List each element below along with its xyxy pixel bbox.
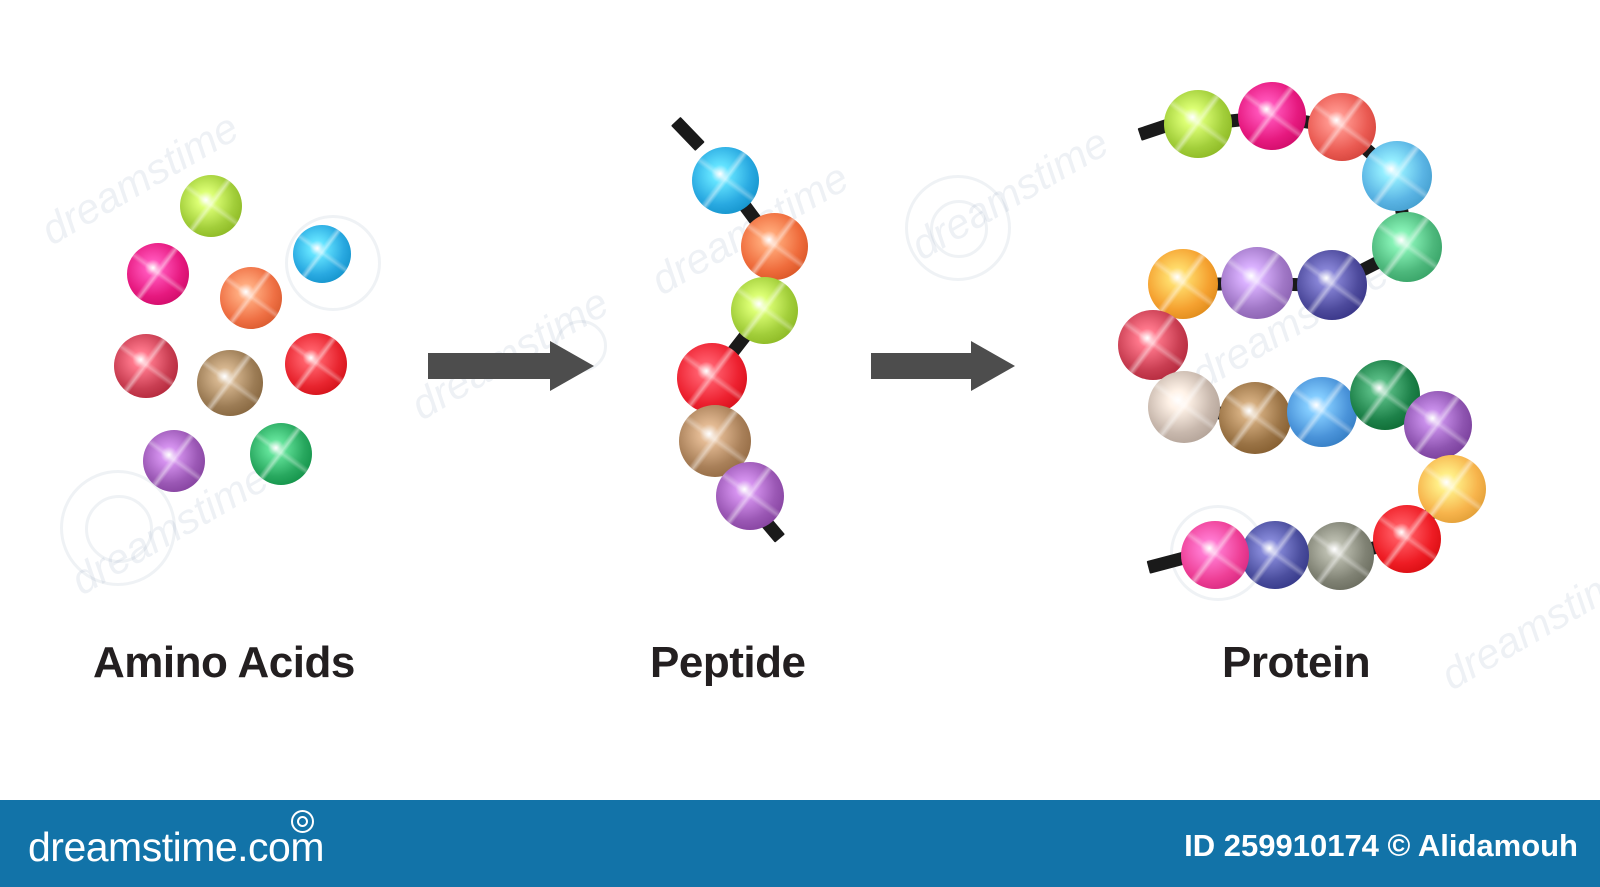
- amino-acid-sphere-sky-blue: [293, 225, 351, 283]
- amino-acid-sphere-sky-blue: [1362, 141, 1432, 211]
- watermark-ring: [905, 175, 1011, 281]
- amino-acid-sphere-purple: [716, 462, 784, 530]
- arrow-shaft: [428, 353, 550, 379]
- amino-acid-sphere-yellow-green: [731, 277, 798, 344]
- illustration-area: dreamstimedreamstimedreamstimedreamstime…: [0, 0, 1600, 800]
- amino-acid-sphere-red: [285, 333, 347, 395]
- amino-acid-sphere-pink: [1181, 521, 1249, 589]
- amino-acid-sphere-purple: [143, 430, 205, 492]
- amino-acid-sphere-magenta: [1238, 82, 1306, 150]
- stage-label-amino-acids: Amino Acids: [93, 638, 355, 688]
- amino-acid-sphere-yellow-green: [180, 175, 242, 237]
- diagram-canvas: dreamstimedreamstimedreamstimedreamstime…: [0, 0, 1600, 887]
- amino-acid-sphere-green: [1372, 212, 1442, 282]
- spiral-icon: [291, 810, 314, 833]
- footer-bar: dreamstime.com ID 259910174 © Alidamouh: [0, 800, 1600, 887]
- amino-acid-sphere-orange: [741, 213, 808, 280]
- watermark-text: dreamstime: [1433, 548, 1600, 699]
- amino-acid-sphere-crimson: [1118, 310, 1188, 380]
- amino-acid-sphere-purple: [1404, 391, 1472, 459]
- watermark-ring: [85, 495, 153, 563]
- watermark-ring: [930, 200, 988, 258]
- amino-acid-sphere-light-purple: [1221, 247, 1293, 319]
- amino-acid-sphere-navy-purple: [1297, 250, 1367, 320]
- stage-label-protein: Protein: [1222, 638, 1370, 688]
- amino-acid-sphere-gray: [1306, 522, 1374, 590]
- amino-acid-sphere-salmon-red: [1308, 93, 1376, 161]
- amino-acid-sphere-orange: [220, 267, 282, 329]
- amino-acid-sphere-green: [250, 423, 312, 485]
- amino-acid-sphere-magenta: [127, 243, 189, 305]
- amino-acid-sphere-beige: [1148, 371, 1220, 443]
- amino-acid-sphere-red: [1373, 505, 1441, 573]
- dreamstime-logo[interactable]: dreamstime.com: [28, 824, 324, 871]
- amino-acid-sphere-crimson: [114, 334, 178, 398]
- watermark-text: dreamstime: [903, 118, 1117, 269]
- arrow-shaft: [871, 353, 971, 379]
- amino-acid-sphere-steel-blue: [1287, 377, 1357, 447]
- image-credit: ID 259910174 © Alidamouh: [1184, 828, 1578, 864]
- amino-acid-sphere-brown: [197, 350, 263, 416]
- arrow-amino-to-peptide: [428, 341, 594, 391]
- amino-acid-sphere-brown: [1219, 382, 1291, 454]
- amino-acid-sphere-yellow-green: [1164, 90, 1232, 158]
- dreamstime-logo-text: dreamstime.com: [28, 824, 324, 870]
- peptide-bond: [671, 117, 704, 151]
- amino-acid-sphere-orange: [1148, 249, 1218, 319]
- amino-acid-sphere-red: [677, 343, 747, 413]
- arrow-head: [550, 341, 594, 391]
- amino-acid-sphere-slate-blue: [1241, 521, 1309, 589]
- stage-label-peptide: Peptide: [650, 638, 805, 688]
- arrow-head: [971, 341, 1015, 391]
- arrow-peptide-to-protein: [871, 341, 1015, 391]
- amino-acid-sphere-sky-blue: [692, 147, 759, 214]
